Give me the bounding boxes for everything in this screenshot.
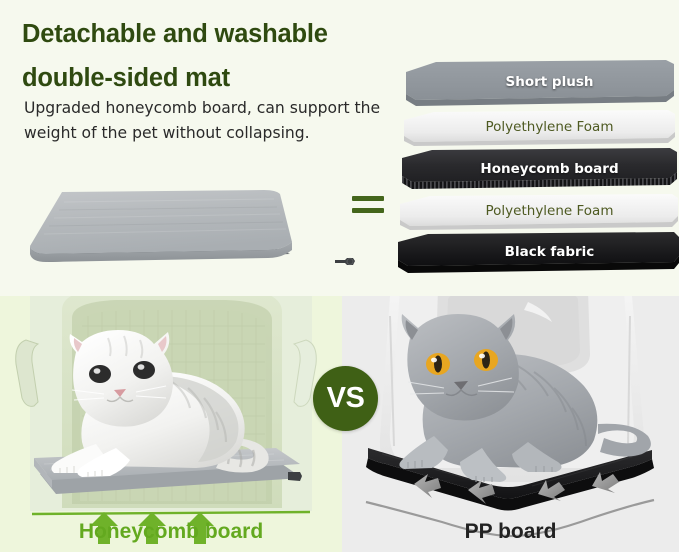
mat-shape-icon <box>24 184 346 276</box>
layer-foam-top: Polyethylene Foam <box>398 108 679 146</box>
gray-mat-illustration <box>24 184 346 276</box>
zipper-pull-icon <box>334 256 356 268</box>
headline-row-1: Detachable and washable <box>22 14 402 58</box>
layer-label-foam-top: Polyethylene Foam <box>464 119 614 135</box>
layer-label-foam-bottom: Polyethylene Foam <box>464 203 614 219</box>
caption-pp-board: PP board <box>342 520 679 544</box>
layer-honeycomb-board: Honeycomb board <box>398 146 679 192</box>
layer-label-short-plush: Short plush <box>484 74 594 90</box>
layer-stack-diagram: Short plush Polyethylene Foam <box>398 58 679 283</box>
layer-short-plush: Short plush <box>398 58 679 106</box>
layer-label-black-fabric: Black fabric <box>483 244 595 260</box>
top-section: Detachable and washable double-sided mat… <box>0 0 679 296</box>
headline-line-1: Detachable and washable <box>22 14 328 55</box>
product-infographic: Detachable and washable double-sided mat… <box>0 0 679 552</box>
comparison-panel-pp: PP board <box>342 296 679 552</box>
honeycomb-scene-illustration <box>0 296 342 552</box>
equals-bar-top <box>352 196 384 201</box>
equals-sign <box>352 196 384 222</box>
comparison-panel-honeycomb: Honeycomb board <box>0 296 342 552</box>
caption-honeycomb-board: Honeycomb board <box>0 520 342 544</box>
headline-line-2: double-sided mat <box>22 58 230 99</box>
subheadline-text: Upgraded honeycomb board, can support th… <box>24 96 394 146</box>
layer-black-fabric: Black fabric <box>398 230 679 274</box>
layer-foam-bottom: Polyethylene Foam <box>398 192 679 230</box>
layer-label-honeycomb-board: Honeycomb board <box>458 161 618 177</box>
pp-board-scene-illustration <box>342 296 679 552</box>
headline-block: Detachable and washable double-sided mat <box>22 14 402 102</box>
equals-bar-bottom <box>352 208 384 213</box>
vs-badge: VS <box>313 366 378 431</box>
